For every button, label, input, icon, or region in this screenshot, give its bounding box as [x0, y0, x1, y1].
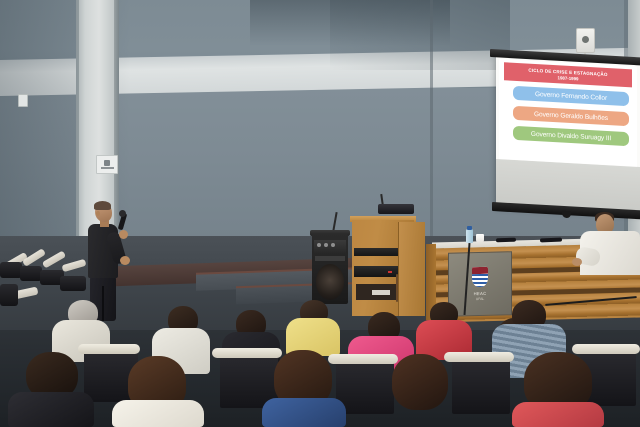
av-cabinet-door[interactable] [398, 222, 425, 316]
audience-body-front [8, 392, 94, 427]
presenter-leg-split [102, 286, 104, 321]
auditorium-chair-arm [78, 344, 140, 354]
audience-body-front [512, 402, 604, 427]
seated-panelist-hand [572, 258, 582, 266]
empty-seat-back-1 [0, 262, 22, 278]
auditorium-chair[interactable] [452, 356, 510, 414]
plastic-cup [476, 234, 484, 243]
slide-box-1: Governo Fernando Collor [513, 86, 629, 106]
audience-head-front [392, 354, 448, 410]
av-cabinet-device-1 [354, 248, 398, 256]
audience-body-front [262, 398, 346, 427]
amplifier-brand-strip [315, 256, 345, 261]
av-cabinet-cable [396, 274, 398, 302]
wireless-receiver [378, 204, 414, 214]
water-bottle-cap [467, 226, 472, 230]
amplifier-knob-3[interactable] [331, 243, 335, 247]
amplifier-knob-1[interactable] [317, 243, 321, 247]
projection-screen: CICLO DE CRISE E ESTAGNAÇÃO 1987-1999 Go… [496, 55, 640, 217]
slide-box-list: Governo Fernando Collor Governo Geraldo … [513, 86, 629, 146]
wall-seam-right [430, 0, 433, 238]
av-cabinet-led-icon [388, 271, 392, 273]
auditorium-chair-arm [572, 344, 640, 354]
wall-pillar-seam [76, 0, 79, 238]
amplifier-knob-2[interactable] [324, 243, 328, 247]
slide-box-2: Governo Geraldo Bulhões [513, 106, 629, 126]
no-smoking-sign [96, 155, 118, 174]
venue-plaque: HEAC UFAL [448, 251, 512, 317]
motion-sensor-icon [576, 28, 595, 53]
auditorium-chair-arm [328, 354, 398, 364]
presentation-slide: CICLO DE CRISE E ESTAGNAÇÃO 1987-1999 Go… [499, 59, 637, 167]
wall-pillar-edge [114, 0, 119, 238]
table-microphone-1 [496, 238, 516, 243]
coat-of-arms-icon [472, 267, 488, 287]
av-cabinet-paper [372, 290, 390, 295]
empty-seat-back-5 [0, 284, 18, 306]
empty-seat-back-4 [60, 276, 86, 291]
presenter-ear [96, 211, 100, 216]
light-switch-plate[interactable] [18, 94, 28, 107]
empty-seat-back-2 [20, 266, 42, 281]
plaque-sublabel: UFAL [476, 297, 484, 301]
slide-title-banner: CICLO DE CRISE E ESTAGNAÇÃO 1987-1999 [504, 62, 632, 87]
water-bottle [466, 229, 473, 243]
handheld-microphone-head [119, 210, 126, 217]
audience-body-front [112, 400, 204, 427]
presenter-free-hand [120, 256, 130, 265]
presenter-hand-holding-mic [119, 230, 128, 239]
table-microphone-2 [540, 238, 562, 243]
amplifier-speaker-cone [316, 264, 344, 300]
auditorium-chair-arm [212, 348, 282, 358]
presenter-hair [94, 201, 111, 210]
auditorium-photo: CICLO DE CRISE E ESTAGNAÇÃO 1987-1999 Go… [0, 0, 640, 427]
plaque-label: HEAC [474, 291, 487, 296]
auditorium-chair-arm [444, 352, 514, 362]
wall-shadow-top-right [330, 0, 510, 70]
slide-title-line2: 1987-1999 [558, 75, 579, 81]
slide-box-3: Governo Divaldo Suruagy III [513, 126, 629, 146]
